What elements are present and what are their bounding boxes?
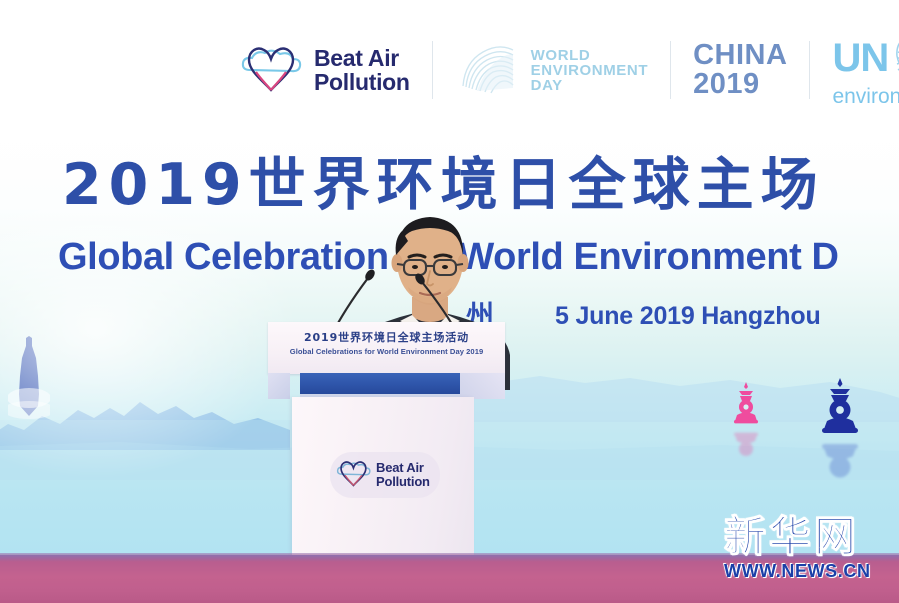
screenshot-root: Beat Air Pollution <box>0 0 899 603</box>
backdrop-glow <box>0 180 300 480</box>
xinhua-watermark: 新华网 WWW.NEWS.CN <box>724 514 884 586</box>
podium-sign-en: Global Celebrations for World Environmen… <box>268 347 505 357</box>
podium-shelf-left <box>268 373 290 399</box>
podium-heart-cloud-icon <box>336 456 372 495</box>
podium-logo-beat-air-pollution: Beat Air Pollution <box>330 452 440 498</box>
podium-shelf-right <box>460 373 505 399</box>
logo-un-label: UN <box>832 38 888 78</box>
podium-sign-panel: 2019世界环境日全球主场活动 Global Celebrations for … <box>268 322 505 374</box>
wed-swirl-icon <box>455 38 523 103</box>
logo-china-2019-label: CHINA 2019 <box>693 41 787 99</box>
logo-un-environment: UN <box>810 34 899 106</box>
stone-pagoda-navy-reflection <box>818 434 862 499</box>
logo-beat-air-pollution: Beat Air Pollution <box>218 34 432 106</box>
logo-china-2019: CHINA 2019 <box>671 34 809 106</box>
sponsor-logo-strip: Beat Air Pollution <box>0 0 899 140</box>
logo-wed-label: WORLD ENVIRONMENT DAY <box>531 48 648 93</box>
logo-un-sublabel: environment <box>832 86 899 107</box>
heart-cloud-icon <box>240 38 304 103</box>
podium-blue-band <box>300 373 460 394</box>
podium-sign-cn: 2019世界环境日全球主场活动 <box>268 331 505 344</box>
logo-beat-air-pollution-label: Beat Air Pollution <box>314 46 410 94</box>
banner-date-en: 5 June 2019 Hangzhou <box>555 300 821 332</box>
podium-logo-label: Beat Air Pollution <box>376 461 430 489</box>
un-emblem-icon <box>892 34 899 83</box>
xinhua-watermark-url: WWW.NEWS.CN <box>724 561 884 581</box>
xinhua-watermark-cn: 新华网 <box>724 514 884 560</box>
stone-pagoda-pink-reflection <box>731 424 761 474</box>
logo-world-environment-day: WORLD ENVIRONMENT DAY <box>433 34 670 106</box>
